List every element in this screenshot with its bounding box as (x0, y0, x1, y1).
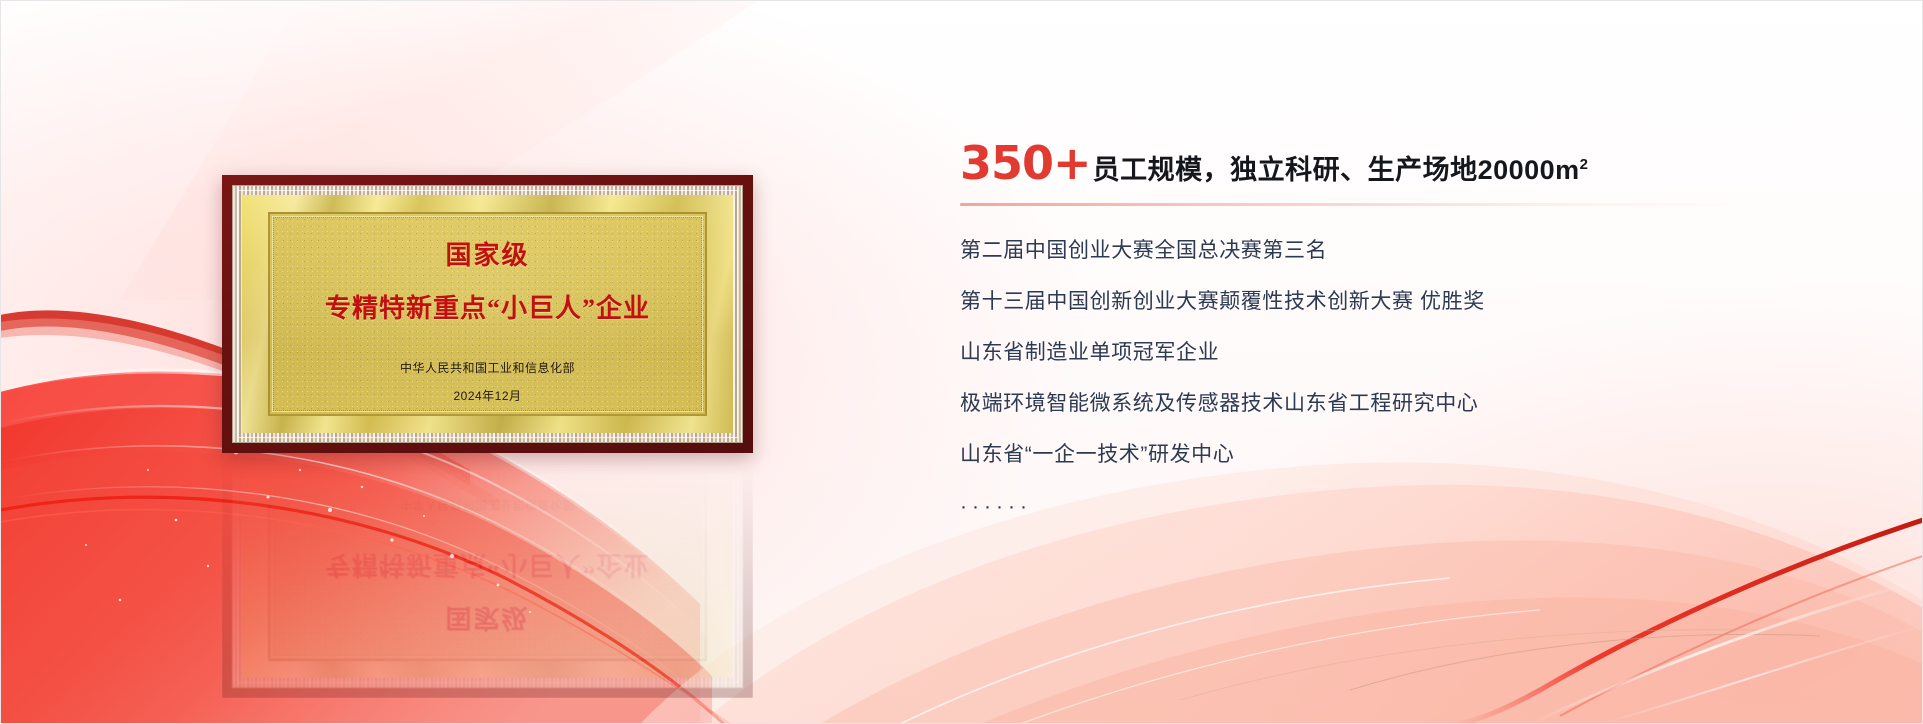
honors-banner: 国家级 专精特新重点“小巨人”企业 中华人民共和国工业和信息化部 2024年12… (0, 0, 1923, 724)
headline: 350+ 员工规模，独立科研、生产场地20000m2 (960, 140, 1860, 186)
plaque-title-line1: 国家级 (445, 235, 529, 272)
plaque-outer-frame: 国家级 专精特新重点“小巨人”企业 中华人民共和国工业和信息化部 2024年12… (222, 175, 753, 453)
content-column: 350+ 员工规模，独立科研、生产场地20000m2 第二届中国创业大赛全国总决… (960, 140, 1860, 519)
headline-description: 员工规模，独立科研、生产场地20000m2 (1093, 157, 1589, 184)
list-item: 第十三届中国创新创业大赛颠覆性技术创新大赛 优胜奖 (960, 291, 1860, 312)
headline-description-text: 员工规模，独立科研、生产场地20000m (1093, 155, 1580, 185)
plaque-gold-face: 国家级 专精特新重点“小巨人”企业 中华人民共和国工业和信息化部 2024年12… (242, 195, 733, 433)
list-item: 极端环境智能微系统及传感器技术山东省工程研究中心 (960, 393, 1860, 414)
headline-number: 350+ (960, 140, 1091, 186)
award-plaque: 国家级 专精特新重点“小巨人”企业 中华人民共和国工业和信息化部 2024年12… (222, 175, 753, 453)
headline-divider (960, 203, 1750, 206)
plaque-title-line2: 专精特新重点“小巨人”企业 (325, 288, 650, 325)
list-item: 山东省“一企一技术”研发中心 (960, 444, 1860, 465)
headline-superscript: 2 (1580, 156, 1589, 173)
plaque-date: 2024年12月 (453, 387, 521, 404)
plaque-text-block: 国家级 专精特新重点“小巨人”企业 中华人民共和国工业和信息化部 2024年12… (242, 195, 733, 433)
list-more-indicator: ······ (960, 495, 1860, 519)
list-item: 第二届中国创业大赛全国总决赛第三名 (960, 240, 1860, 261)
plaque-issuer: 中华人民共和国工业和信息化部 (400, 359, 575, 376)
honors-list: 第二届中国创业大赛全国总决赛第三名 第十三届中国创新创业大赛颠覆性技术创新大赛 … (960, 240, 1860, 519)
list-item: 山东省制造业单项冠军企业 (960, 342, 1860, 363)
plaque-ornamental-border: 国家级 专精特新重点“小巨人”企业 中华人民共和国工业和信息化部 2024年12… (232, 185, 743, 443)
